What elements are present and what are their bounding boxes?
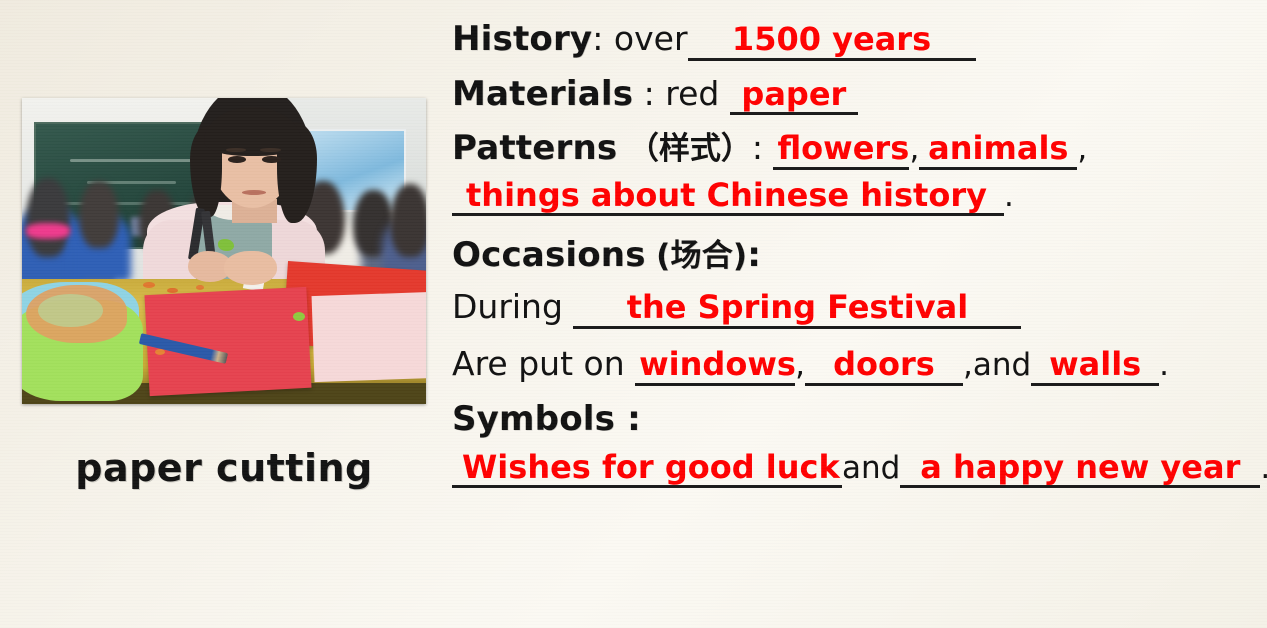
patterns-period: . <box>1004 178 1014 214</box>
occasions-spacer <box>646 235 657 274</box>
history-colon: : <box>592 19 603 58</box>
patterns-answer-blank-3[interactable]: things about Chinese history <box>452 179 1004 217</box>
classroom-paper-cutting-photo <box>22 98 426 404</box>
photo-green-paper-scrap <box>218 239 234 251</box>
put-on-answer-blank-1[interactable]: windows <box>635 348 795 386</box>
occasions-line: Occasions (场合): <box>452 238 1257 272</box>
photo-pink-object <box>26 223 70 238</box>
photo-background-student <box>26 178 70 258</box>
photo-pink-paper-sheet <box>311 292 426 382</box>
during-lead: During <box>452 287 563 326</box>
materials-spacer2 <box>655 74 666 113</box>
put-on-separator-2: ,and <box>963 347 1031 383</box>
history-lead-word: over <box>614 19 688 58</box>
put-on-answer-blank-3[interactable]: walls <box>1031 348 1159 386</box>
materials-spacer3 <box>719 74 730 113</box>
patterns-chinese-gloss: （样式） <box>628 131 752 167</box>
patterns-separator-2: , <box>1077 131 1087 167</box>
photo-block: paper cutting <box>22 98 426 490</box>
put-on-separator-1: , <box>795 347 805 383</box>
put-on-answer-blank-2[interactable]: doors <box>805 348 963 386</box>
photo-chalk-line <box>70 159 191 162</box>
photo-caption: paper cutting <box>22 446 426 490</box>
symbols-colon: : <box>627 399 641 439</box>
symbols-answer-blank-1[interactable]: Wishes for good luck <box>452 451 842 489</box>
photo-girl-eye <box>262 156 280 163</box>
photo-paper-cutout-detail <box>38 294 103 328</box>
photo-paper-scrap <box>167 288 177 293</box>
photo-background-student <box>79 181 119 248</box>
put-on-lead: Are put on <box>452 344 625 383</box>
photo-paper-scrap <box>143 282 155 288</box>
symbols-conjunction: and <box>842 450 900 486</box>
history-answer-blank[interactable]: 1500 years <box>688 23 976 61</box>
patterns-separator-1: , <box>909 131 919 167</box>
during-answer-blank[interactable]: the Spring Festival <box>573 291 1021 329</box>
patterns-answer-blank-1[interactable]: flowers <box>773 132 909 170</box>
patterns-answer-blank-2[interactable]: animals <box>919 132 1077 170</box>
history-lead <box>603 19 614 58</box>
patterns-label: Patterns <box>452 128 617 168</box>
put-on-period: . <box>1159 347 1169 383</box>
during-line: During the Spring Festival <box>452 290 1257 329</box>
symbols-period: . <box>1260 450 1267 486</box>
photo-girl-hand <box>224 251 277 285</box>
during-spacer <box>563 287 574 326</box>
materials-line: Materials : red paper <box>452 77 1257 116</box>
history-line: History: over1500 years <box>452 22 1257 61</box>
materials-label: Materials <box>452 74 633 114</box>
symbols-line: Symbols : <box>452 402 1257 436</box>
materials-lead-word: red <box>665 74 719 113</box>
photo-background-student <box>390 184 426 257</box>
put-on-line: Are put on windows,doors,andwalls. <box>452 347 1257 386</box>
photo-girl-eye <box>228 156 246 163</box>
occasions-colon: : <box>747 235 761 275</box>
occasions-chinese-gloss: (场合) <box>656 238 747 274</box>
history-label: History <box>452 19 592 59</box>
symbols-label: Symbols <box>452 399 615 439</box>
symbols-answer-blank-2[interactable]: a happy new year <box>900 451 1260 489</box>
slide-canvas: paper cutting History: over1500 years Ma… <box>0 0 1267 628</box>
symbols-answer-line: Wishes for good luckanda happy new year. <box>452 450 1257 489</box>
patterns-colon: : <box>752 128 763 167</box>
notes-panel: History: over1500 years Materials : red … <box>452 12 1257 488</box>
photo-paper-scrap <box>196 285 204 290</box>
materials-spacer <box>633 74 644 113</box>
patterns-spacer2 <box>763 128 774 167</box>
materials-answer-blank[interactable]: paper <box>730 78 858 116</box>
materials-colon: : <box>644 74 655 113</box>
photo-girl-mouth <box>242 190 266 195</box>
patterns-line-continued: things about Chinese history. <box>452 178 1257 217</box>
put-on-spacer <box>625 344 636 383</box>
symbols-spacer <box>615 399 627 439</box>
patterns-spacer <box>617 128 628 167</box>
patterns-line: Patterns （样式）: flowers,animals, <box>452 131 1257 170</box>
occasions-label: Occasions <box>452 235 646 275</box>
